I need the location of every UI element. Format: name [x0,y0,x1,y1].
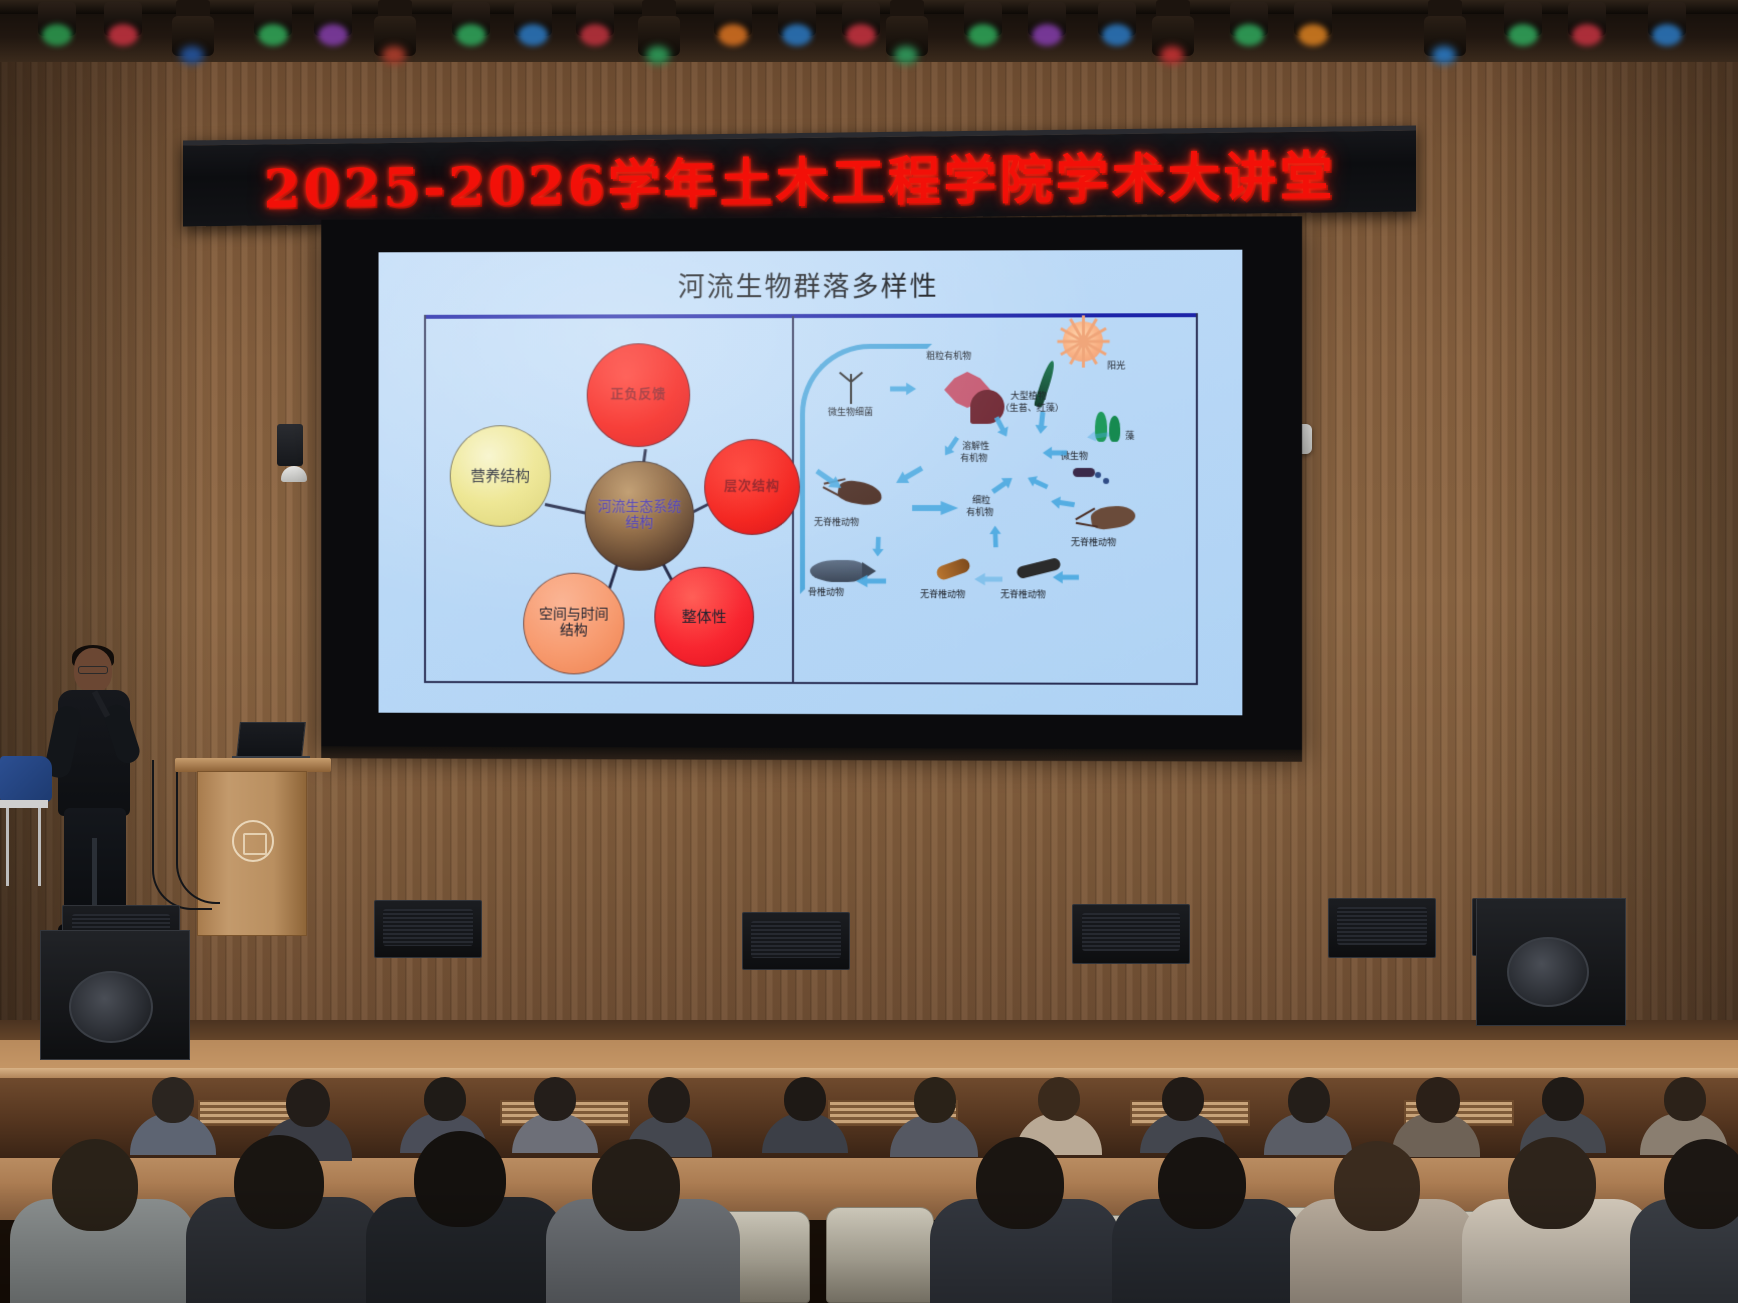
audience-head [534,1077,576,1121]
subwoofer-speaker [1476,898,1626,1026]
node-hierarchical-structure: 层次结构 [704,439,800,535]
node-right-label: 层次结构 [724,480,780,495]
flow-arrow [1025,472,1051,493]
stage-light-par [444,0,498,50]
audience-head [1038,1077,1080,1121]
invertebrate-icon [935,557,972,582]
stage-light-par [1020,0,1074,50]
label-vertebrate: 骨椎动物 [808,588,844,599]
node-integrity: 整体性 [654,567,754,667]
blue-cloth [0,756,52,802]
node-top-label: 正负反馈 [611,388,667,403]
event-banner: 2025-2026学年土木工程学院学术大讲堂 [183,125,1416,226]
stage-monitor-speaker [374,900,482,958]
stage-light-par [1286,0,1340,50]
moving-head-light [1422,0,1468,56]
stage-light-par [1222,0,1276,50]
stage-light-par [506,0,560,50]
flow-arrow [974,572,1002,586]
stage-monitor-speaker [1328,898,1436,958]
label-dissolved-organic-line2: 有机物 [960,454,987,465]
stage-light-par [1090,0,1144,50]
audience-head [1664,1077,1706,1121]
lecture-hall-photo: 2025-2026学年土木工程学院学术大讲堂 河流生物群落多样性 正负反馈 [0,0,1738,1303]
label-fine-organic-line1: 细粒 [972,496,990,507]
node-center-label-2: 结构 [598,516,682,532]
stage-light-par [834,0,888,50]
moving-head-light [884,0,930,56]
label-invertebrate-left: 无脊椎动物 [814,518,859,529]
audience-head [1416,1077,1460,1123]
node-bottom-left-label-2: 结构 [539,624,609,640]
moving-head-light [636,0,682,56]
stage-light-par [956,0,1010,50]
stage-light-par [30,0,84,50]
sun-icon [1063,321,1103,361]
flow-arrow [1034,411,1050,434]
label-dissolved-organic-line1: 溶解性 [962,442,989,453]
label-invertebrate-right: 无脊椎动物 [1071,538,1116,549]
audience-head [784,1077,826,1121]
stage-monitor-speaker [742,912,850,970]
label-invertebrate-far: 无脊椎动物 [1000,590,1045,601]
flow-arrow [856,574,886,588]
metal-stool [0,800,48,886]
presenter-glasses [78,666,108,674]
stage-light-par [568,0,622,50]
wall-sensor-box [277,424,303,466]
algae-icon [1109,416,1120,442]
flow-arrow [990,414,1013,440]
flow-arrow [912,500,958,516]
flow-arrow [890,382,916,396]
flow-arrow [1053,570,1079,584]
university-emblem-icon [232,820,274,862]
stage-light-par [1496,0,1550,50]
label-microbial-bacteria: 微生物细菌 [828,408,873,419]
node-left-label: 营养结构 [471,468,531,485]
stage-light-par [706,0,760,50]
stage-light-par [246,0,300,50]
node-bottom-right-label: 整体性 [682,608,727,625]
label-algae: 藻 [1125,432,1134,443]
food-web-panel: 阳光 大型植物 （生苔、红藻） 藻 粗粒有机物 [794,315,1198,685]
stage-light-par [96,0,150,50]
label-invertebrate-mid: 无脊椎动物 [920,590,965,601]
label-macrophyte-line1: 大型植物 [1010,392,1046,403]
bacteria-icon [838,374,866,404]
node-trophic-structure: 营养结构 [450,425,551,527]
audience-head [1542,1077,1584,1121]
stage-light-par [770,0,824,50]
stage-light-par [1560,0,1614,50]
node-river-ecosystem-structure: 河流生态系统 结构 [585,461,694,571]
power-cable [176,772,220,904]
moving-head-light [1150,0,1196,56]
label-sunlight: 阳光 [1107,361,1125,372]
flow-arrow [989,525,1003,547]
node-bottom-left-label-1: 空间与时间 [539,608,609,624]
flow-arrow [871,536,885,556]
stage-light-par [306,0,360,50]
flow-arrow [989,472,1017,497]
audience-head [914,1077,956,1123]
banner-title-text: 2025-2026学年土木工程学院学术大讲堂 [263,134,1335,223]
presentation-slide: 河流生物群落多样性 正负反馈 层次结构 营养结构 [379,250,1243,716]
laptop-screen [236,722,306,758]
audience-head [152,1077,194,1123]
invertebrate-icon [1090,503,1137,531]
stage-light-par [1640,0,1694,50]
node-positive-negative-feedback: 正负反馈 [587,343,691,447]
moving-head-light [170,0,216,56]
audience-head [1288,1077,1330,1123]
node-center-label-1: 河流生态系统 [598,500,682,516]
flow-arrow [1043,446,1067,460]
audience-head [424,1077,466,1121]
audience-seating [0,1040,1738,1303]
stage-monitor-speaker [1072,904,1190,964]
node-space-time-structure: 空间与时间 结构 [523,573,624,675]
audience-head [648,1077,690,1123]
slide-title: 河流生物群落多样性 [379,264,1243,305]
moving-head-light [372,0,418,56]
microbe-icon [1073,468,1095,477]
label-fine-organic-line2: 有机物 [966,508,993,519]
audience-head [1162,1077,1204,1121]
projection-screen-frame: 河流生物群落多样性 正负反馈 层次结构 营养结构 [321,216,1302,749]
audience-head [286,1079,330,1127]
flow-arrow [1086,428,1110,443]
concept-map-panel: 正负反馈 层次结构 营养结构 空间与时间 结构 整体性 [438,321,788,681]
audience-shadow-overlay [0,1183,1738,1303]
label-coarse-organic: 粗粒有机物 [926,352,971,363]
label-macrophyte-line2: （生苔、红藻） [1000,404,1063,415]
flow-arrow [1050,494,1076,511]
